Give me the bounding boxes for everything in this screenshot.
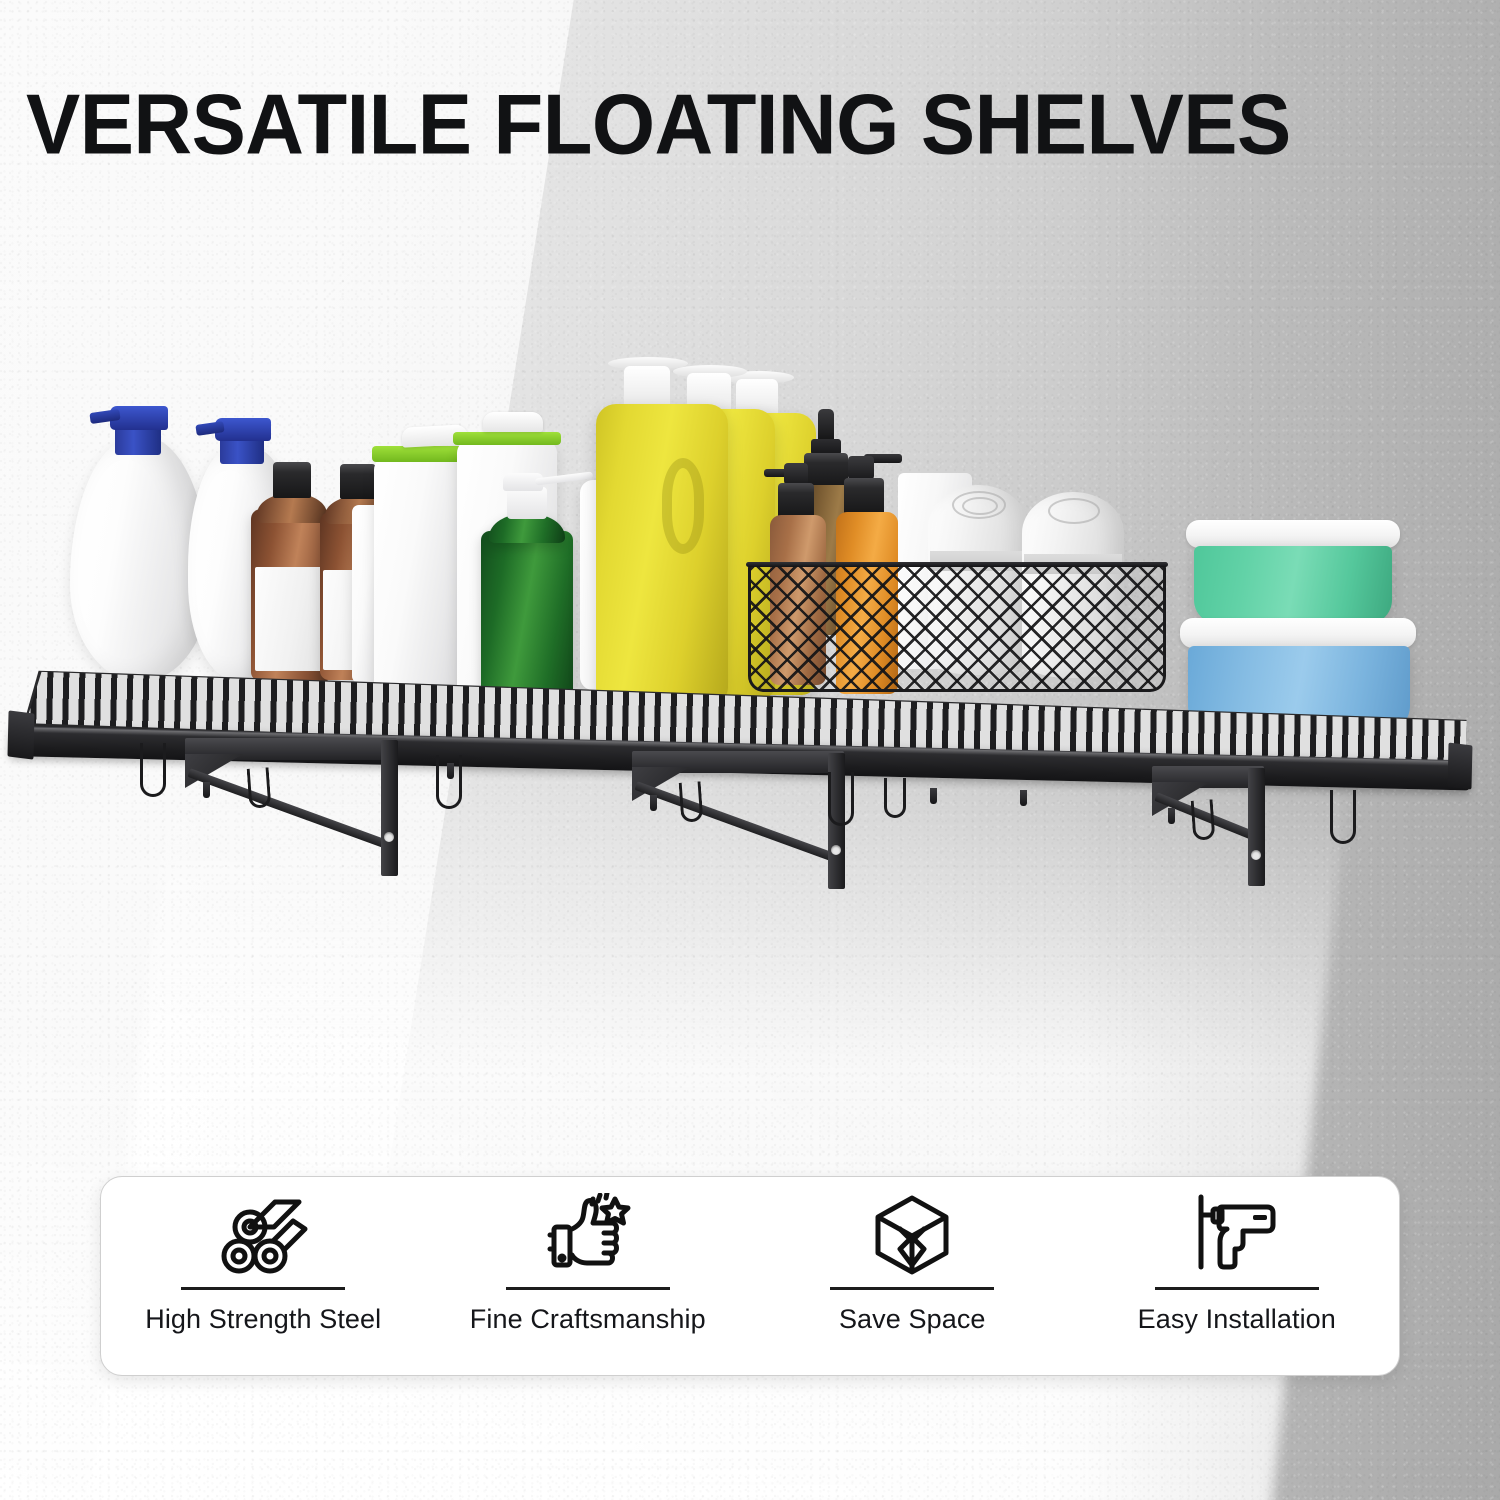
- s-hook-1[interactable]: [140, 743, 166, 797]
- towel-spiral-2: [1048, 498, 1100, 524]
- feature-label: Easy Installation: [1138, 1304, 1336, 1335]
- s-hook-5[interactable]: [828, 772, 854, 826]
- rail-end-cap-right: [1448, 742, 1473, 789]
- bracket-mount-hole-3: [1251, 850, 1261, 860]
- towel-spiral-1b: [962, 497, 998, 515]
- thumbs-up-star-icon: [542, 1191, 634, 1279]
- feature-divider: [506, 1287, 670, 1290]
- bracket-wall-plate-3: [1248, 768, 1265, 886]
- page-title: VERSATILE FLOATING SHELVES: [26, 76, 1291, 173]
- feature-highlights-card: High Strength Steel Fine Craftsman: [100, 1176, 1400, 1376]
- bracket-mount-hole-1: [384, 832, 394, 842]
- jug-cap-1: [624, 366, 670, 408]
- feature-label: Fine Craftsmanship: [470, 1304, 706, 1335]
- s-hook-7[interactable]: [1191, 799, 1216, 840]
- black-cap: [273, 462, 311, 498]
- feature-fine-craftsmanship: Fine Craftsmanship: [426, 1177, 751, 1375]
- orange-pump-collar: [844, 478, 884, 514]
- wire-mesh-basket: [748, 564, 1166, 692]
- orange-pump-head: [848, 456, 874, 480]
- tan-pump-collar: [778, 483, 814, 517]
- steel-tubes-icon: [217, 1191, 309, 1279]
- jug-handle: [662, 458, 704, 554]
- bracket-peg-2: [650, 795, 657, 811]
- tan-pump-head: [784, 463, 808, 485]
- container-lid-green: [1186, 520, 1400, 548]
- clear-pump-collar: [507, 487, 547, 519]
- feature-high-strength-steel: High Strength Steel: [101, 1177, 426, 1375]
- white-bottle-green-cap: [374, 456, 466, 704]
- bracket-peg-1: [203, 782, 210, 798]
- storage-container-green: [1194, 546, 1392, 624]
- feature-easy-installation: Easy Installation: [1075, 1177, 1400, 1375]
- feature-divider: [830, 1287, 994, 1290]
- yellow-detergent-jug-1: [596, 404, 728, 702]
- s-hook-4[interactable]: [679, 781, 704, 822]
- floating-shelf-assembly: [0, 600, 1500, 900]
- dropper-cap: [804, 453, 848, 487]
- black-cap: [340, 464, 376, 499]
- bracket-mount-hole-2: [831, 845, 841, 855]
- bottle-label: [255, 567, 329, 671]
- rail-end-cap-left: [7, 710, 34, 759]
- container-lid-blue: [1180, 618, 1416, 648]
- bracket-wall-plate-1: [381, 740, 398, 876]
- rail-peg-1: [447, 763, 454, 779]
- cube-box-icon: [866, 1191, 958, 1279]
- green-band-2: [453, 432, 561, 445]
- feature-divider: [1155, 1287, 1319, 1290]
- s-hook-2[interactable]: [247, 767, 272, 808]
- rail-peg-3: [1020, 790, 1027, 806]
- feature-label: High Strength Steel: [145, 1304, 381, 1335]
- s-hook-8[interactable]: [1330, 790, 1356, 844]
- feature-divider: [181, 1287, 345, 1290]
- feature-save-space: Save Space: [750, 1177, 1075, 1375]
- product-image-stage: VERSATILE FLOATING SHELVES: [0, 0, 1500, 1500]
- drill-wall-icon: [1191, 1191, 1283, 1279]
- feature-label: Save Space: [839, 1304, 986, 1335]
- green-band: [372, 446, 470, 462]
- rail-peg-2: [930, 788, 937, 804]
- dropper-bulb: [818, 409, 834, 441]
- s-hook-6[interactable]: [884, 778, 906, 818]
- flip-cap-2: [483, 412, 543, 432]
- bracket-peg-3: [1168, 808, 1175, 824]
- basket-rim: [746, 562, 1168, 567]
